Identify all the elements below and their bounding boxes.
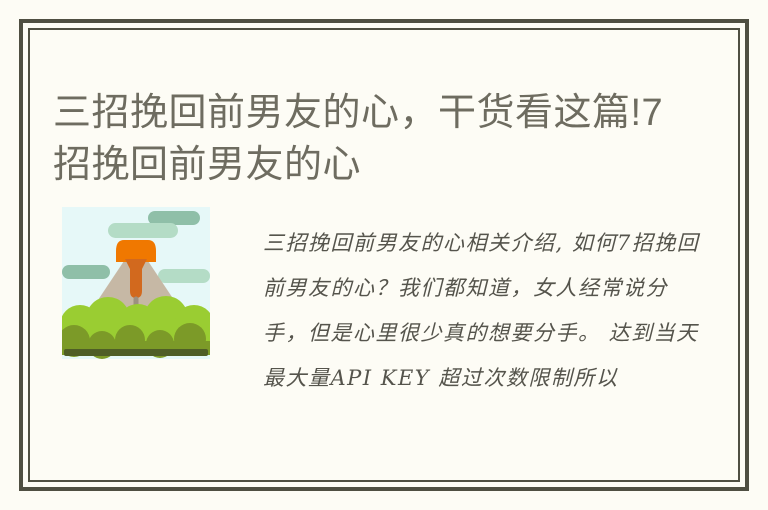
cloud-mid-right bbox=[158, 269, 210, 283]
volcano-illustration bbox=[62, 207, 210, 359]
cloud-upper-center bbox=[108, 223, 178, 238]
article-title: 三招挽回前男友的心，干货看这篇!7招挽回前男友的心 bbox=[53, 87, 693, 191]
article-content-row: 三招挽回前男友的心相关介绍, 如何7招挽回前男友的心？我们都知道，女人经常说分手… bbox=[53, 200, 703, 422]
cloud-mid-left bbox=[62, 265, 110, 279]
ground-bar bbox=[64, 349, 208, 356]
article-card: 三招挽回前男友的心，干货看这篇!7招挽回前男友的心 bbox=[0, 0, 768, 510]
cloud-top-right bbox=[148, 211, 200, 225]
volcano-crater bbox=[116, 240, 156, 262]
volcano-illustration-svg bbox=[62, 207, 210, 359]
article-body: 三招挽回前男友的心相关介绍, 如何7招挽回前男友的心？我们都知道，女人经常说分手… bbox=[263, 221, 703, 401]
